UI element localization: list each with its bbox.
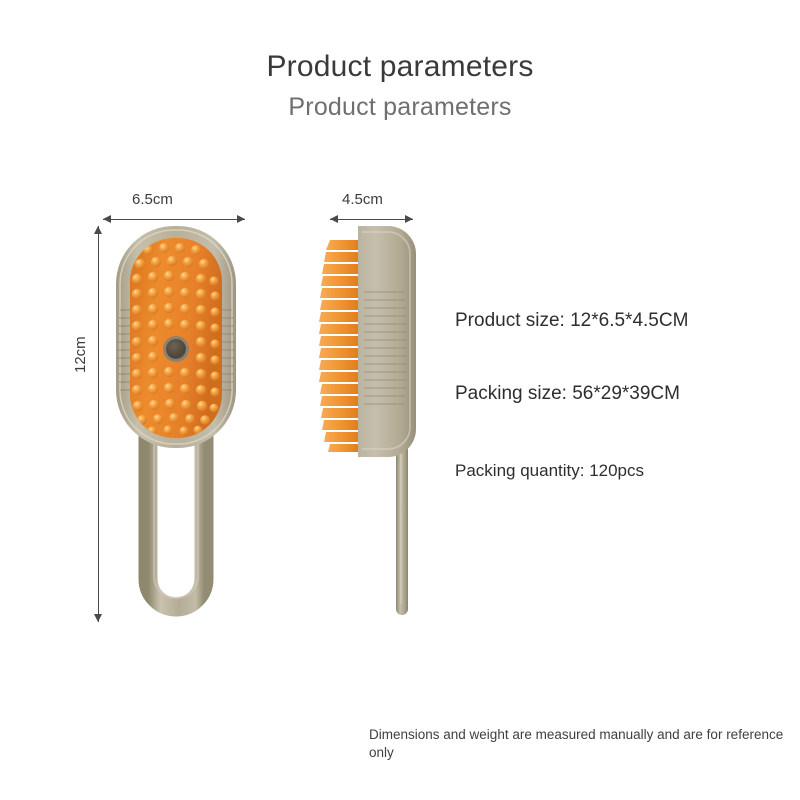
page-title: Product parameters [0, 50, 800, 84]
front-silicone-pad [130, 238, 222, 438]
dimension-arrow-width-side [330, 215, 413, 224]
dimension-label-height: 12cm [72, 336, 89, 373]
product-side-view [300, 224, 460, 624]
dimension-label-width-side: 4.5cm [342, 191, 383, 208]
spec-packing-quantity: Packing quantity: 120pcs [455, 461, 644, 481]
side-view-graphic [300, 224, 460, 624]
side-body [358, 226, 416, 457]
spec-product-size: Product size: 12*6.5*4.5CM [455, 310, 688, 332]
page-subtitle: Product parameters [0, 93, 800, 122]
dimension-arrow-width-front [103, 215, 245, 224]
front-center-hole [163, 336, 189, 362]
spec-packing-size: Packing size: 56*29*39CM [455, 383, 680, 405]
product-front-view [106, 224, 246, 624]
front-view-graphic [106, 224, 246, 624]
dimension-label-width-front: 6.5cm [132, 191, 173, 208]
dimension-arrow-height [94, 226, 103, 622]
product-parameters-canvas: Product parameters Product parameters [0, 0, 800, 800]
measurement-disclaimer: Dimensions and weight are measured manua… [369, 726, 789, 762]
side-bristles [319, 240, 358, 452]
